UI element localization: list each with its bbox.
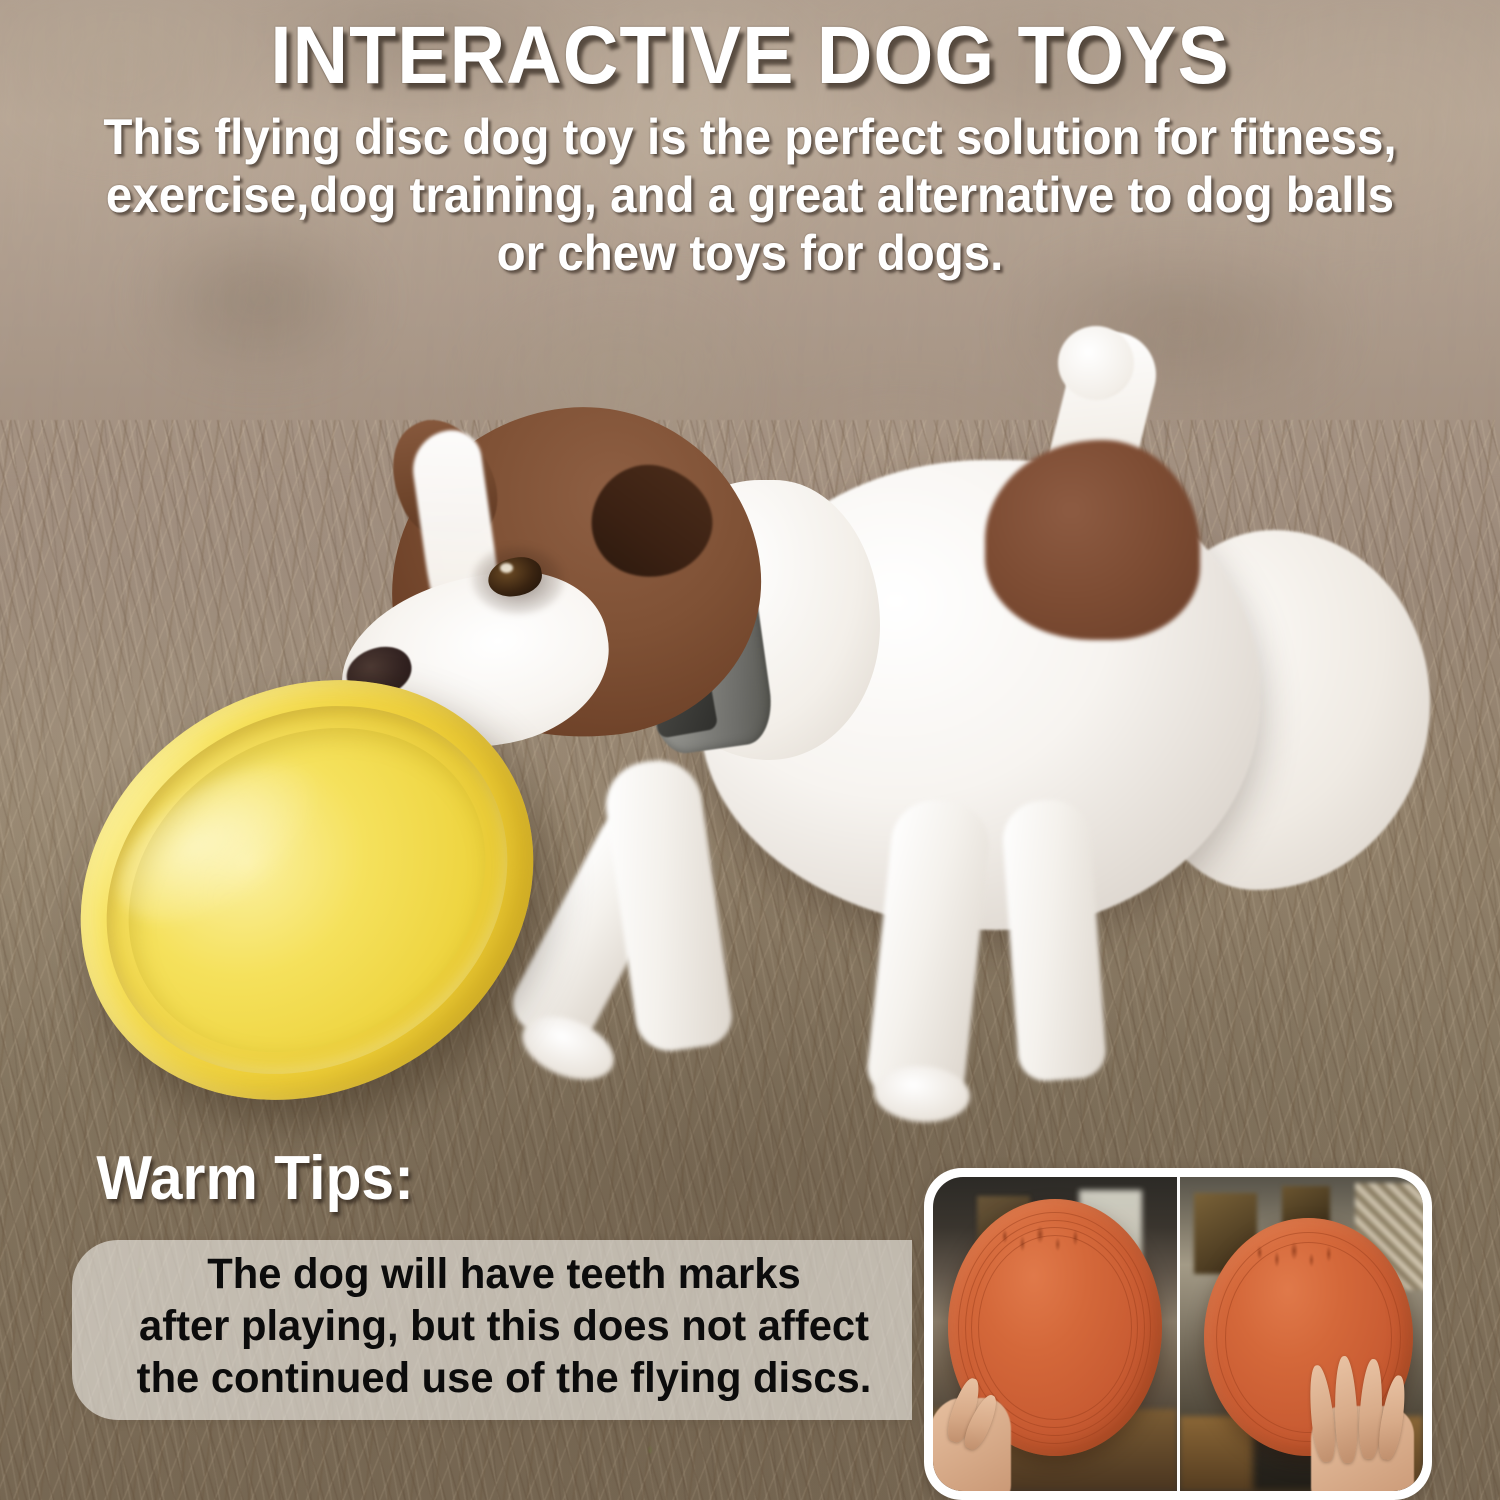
header-block: INTERACTIVE DOG TOYS This flying disc do… — [0, 0, 1500, 282]
dog-front-leg-near — [600, 755, 735, 1056]
inset-photo-left — [933, 1177, 1177, 1491]
subtitle-line-2: exercise,dog training, and a great alter… — [85, 166, 1415, 224]
inset-photo-row — [933, 1177, 1423, 1491]
dog-eye-highlight — [500, 563, 513, 573]
product-infographic: INTERACTIVE DOG TOYS This flying disc do… — [0, 0, 1500, 1500]
warm-tips-line-3: the continued use of the flying discs. — [97, 1352, 912, 1404]
page-title: INTERACTIVE DOG TOYS — [45, 0, 1455, 98]
subtitle-line-3: or chew toys for dogs. — [85, 224, 1415, 282]
finger — [1333, 1356, 1359, 1463]
hand-holding-disc-left — [933, 1372, 1011, 1491]
teeth-marks-right — [1250, 1239, 1346, 1272]
warm-tips-line-2: after playing, but this does not affect — [97, 1300, 912, 1352]
warm-tips-heading: Warm Tips: — [96, 1146, 413, 1212]
inset-photo-panel — [924, 1168, 1432, 1500]
warm-tips-body: The dog will have teeth marks after play… — [97, 1248, 912, 1404]
inset-photo-right — [1177, 1177, 1424, 1491]
teeth-marks-left — [995, 1222, 1094, 1258]
subtitle-line-1: This flying disc dog toy is the perfect … — [85, 108, 1415, 166]
hand-holding-disc-right — [1306, 1353, 1418, 1491]
subtitle-paragraph: This flying disc dog toy is the perfect … — [85, 108, 1415, 282]
dog-tail-tip — [1058, 326, 1134, 400]
dog-back-brown-patch — [985, 440, 1200, 640]
warm-tips-line-1: The dog will have teeth marks — [97, 1248, 912, 1300]
